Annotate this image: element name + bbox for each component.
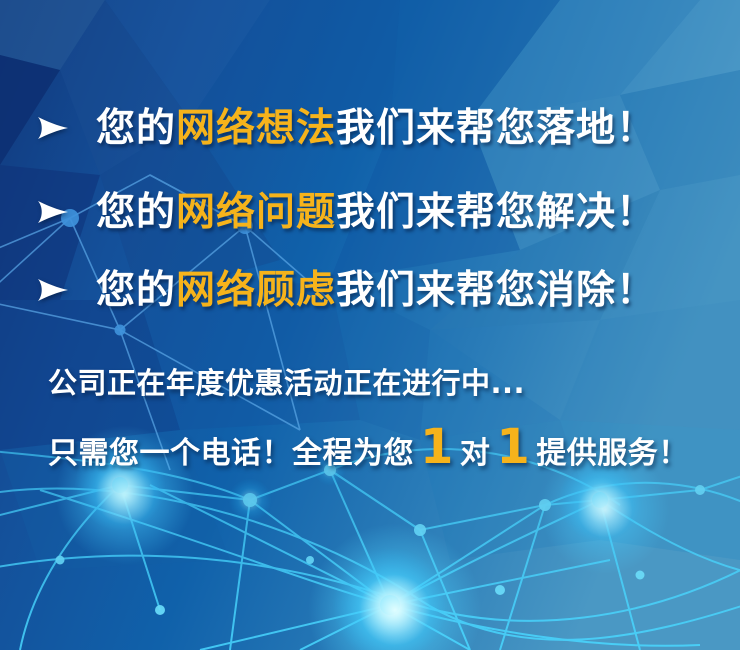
- banner-content: 您的网络想法我们来帮您落地！ 您的网络问题我们来帮您解决！ 您的网络顾虑我们来帮…: [0, 0, 740, 650]
- promo-text: 公司正在年度优惠活动正在进行中...: [48, 360, 525, 402]
- arrow-right-triangle-icon: [36, 114, 70, 142]
- headline-1-highlight: 网络想法: [176, 106, 336, 151]
- headline-3: 您的网络顾虑我们来帮您消除！: [96, 271, 656, 310]
- headline-2-suffix: 我们来帮您解决！: [336, 190, 656, 235]
- headline-row-3: 您的网络顾虑我们来帮您消除！: [36, 262, 656, 318]
- headline-1-suffix: 我们来帮您落地！: [336, 106, 656, 151]
- headline-1-prefix: 您的: [96, 106, 176, 151]
- headline-1: 您的网络想法我们来帮您落地！: [96, 109, 656, 148]
- headline-row-1: 您的网络想法我们来帮您落地！: [36, 100, 656, 156]
- headline-row-2: 您的网络问题我们来帮您解决！: [36, 184, 656, 240]
- headline-2-highlight: 网络问题: [176, 190, 336, 235]
- arrow-right-triangle-icon: [36, 198, 70, 226]
- cta-between: 对: [460, 428, 491, 472]
- arrow-right-triangle-icon: [36, 276, 70, 304]
- cta-number-one-second: 1: [490, 428, 536, 466]
- headline-3-prefix: 您的: [96, 268, 176, 313]
- headline-2-prefix: 您的: [96, 190, 176, 235]
- cta-text: 只需您一个电话！全程为您 1 对 1 提供服务！: [48, 428, 689, 472]
- cta-number-one-first: 1: [414, 428, 460, 466]
- promo-banner: 您的网络想法我们来帮您落地！ 您的网络问题我们来帮您解决！ 您的网络顾虑我们来帮…: [0, 0, 740, 650]
- cta-prefix: 只需您一个电话！全程为您: [48, 428, 414, 472]
- cta-suffix: 提供服务！: [536, 428, 689, 472]
- headline-3-highlight: 网络顾虑: [176, 268, 336, 313]
- headline-2: 您的网络问题我们来帮您解决！: [96, 193, 656, 232]
- headline-3-suffix: 我们来帮您消除！: [336, 268, 656, 313]
